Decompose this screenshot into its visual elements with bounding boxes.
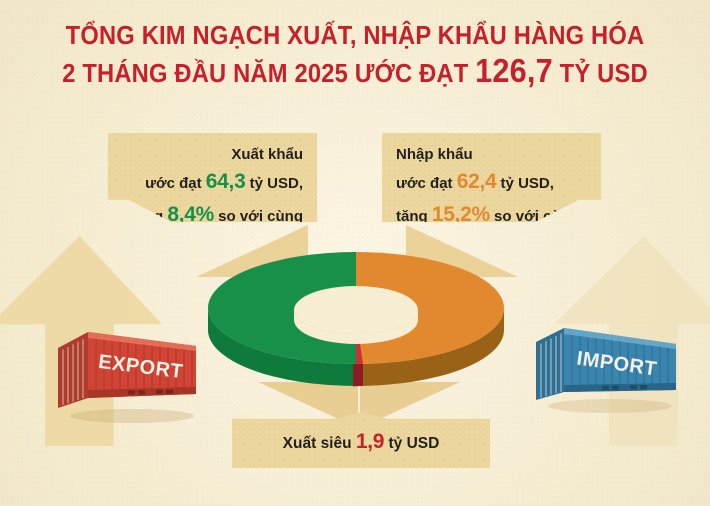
callout-surplus: Xuất siêu 1,9 tỷ USD — [232, 412, 490, 468]
import-container-doors — [536, 328, 564, 400]
callout-export-line2: ước đạt 64,3 tỷ USD, — [122, 166, 303, 199]
callout-export-line2-suffix: tỷ USD, — [245, 175, 303, 192]
import-container-shadow — [548, 399, 672, 413]
export-container-shadow — [70, 409, 194, 423]
callout-export-value: 64,3 — [206, 170, 246, 193]
callout-import-line2: ước đạt 62,4 tỷ USD, — [396, 166, 587, 199]
callout-import-line2-suffix: tỷ USD, — [496, 175, 554, 192]
callout-export-heading: Xuất khẩu — [122, 143, 303, 166]
callout-surplus-prefix: Xuất siêu — [283, 435, 356, 452]
infographic-canvas: TỔNG KIM NGẠCH XUẤT, NHẬP KHẨU HÀNG HÓA … — [0, 0, 710, 506]
callout-surplus-suffix: tỷ USD — [384, 435, 439, 452]
callout-import-heading: Nhập khẩu — [396, 143, 587, 166]
callout-import-line2-prefix: ước đạt — [396, 175, 457, 192]
callout-surplus-text: Xuất siêu 1,9 tỷ USD — [232, 412, 490, 467]
donut-chart — [206, 246, 506, 398]
donut-hole — [294, 286, 418, 334]
donut-side-surplus — [353, 364, 363, 387]
export-shipping-container: EXPORT — [50, 316, 210, 426]
callout-export-line2-prefix: ước đạt — [145, 175, 206, 192]
callout-surplus-value: 1,9 — [356, 430, 384, 453]
import-shipping-container: IMPORT — [530, 306, 690, 416]
callout-import-value: 62,4 — [457, 170, 497, 193]
